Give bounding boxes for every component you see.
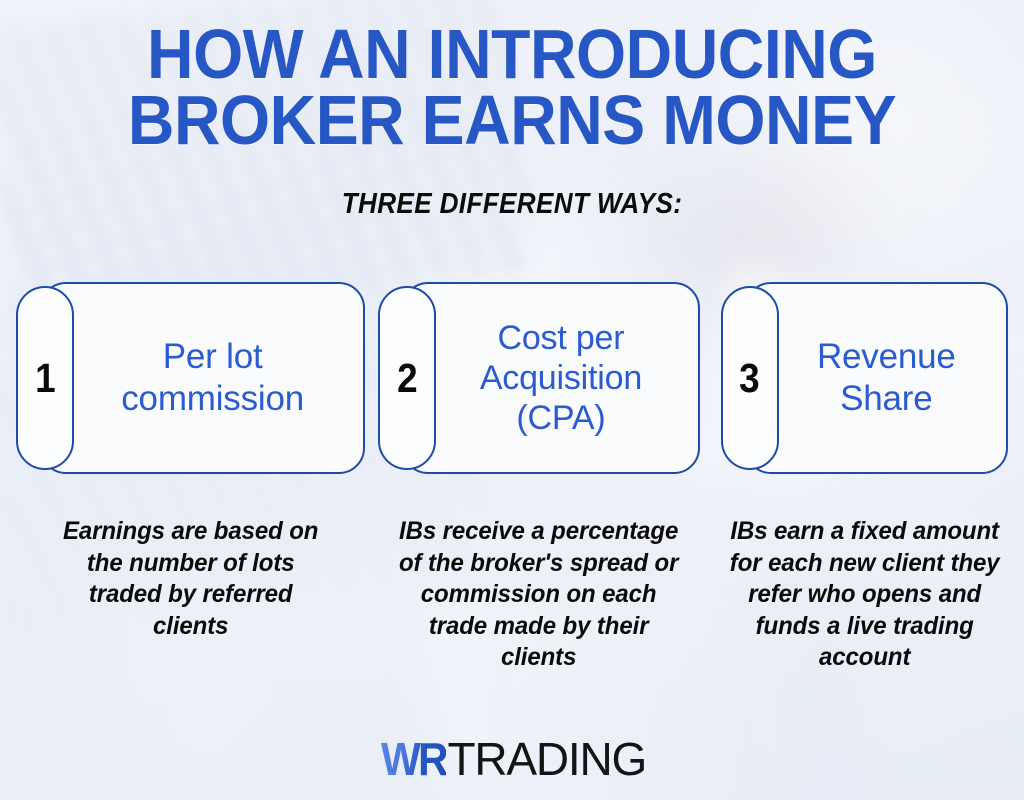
method-card-2-title: Cost per Acquisition (CPA) (438, 318, 683, 438)
brand-logo-mark: WR (381, 736, 446, 782)
method-card-3-title: Revenue Share (781, 336, 992, 420)
method-card-1-description: Earnings are based on the number of lots… (23, 516, 358, 674)
method-card-1-body: Per lot commission (40, 282, 365, 474)
method-card-1: Per lot commission 1 (16, 282, 365, 474)
method-card-3-description: IBs earn a fixed amount for each new cli… (726, 516, 1002, 674)
method-card-2-number: 2 (397, 358, 418, 399)
page-title-line-2: BROKER EARNS MONEY (41, 88, 983, 154)
method-card-1-title: Per lot commission (76, 336, 349, 420)
method-description-list: Earnings are based on the number of lots… (16, 516, 1008, 674)
brand-logo: WR TRADING (0, 736, 1024, 782)
method-card-list: Per lot commission 1 Cost per Acquisitio… (16, 282, 1008, 474)
method-card-3-number: 3 (739, 358, 760, 399)
method-card-2-description: IBs receive a percentage of the broker's… (385, 516, 693, 674)
page-title: HOW AN INTRODUCING BROKER EARNS MONEY (41, 0, 983, 154)
method-card-3-number-badge: 3 (721, 286, 779, 470)
method-card-3-body: Revenue Share (745, 282, 1008, 474)
brand-logo-wordmark: TRADING (448, 736, 647, 782)
method-card-3: Revenue Share 3 (721, 282, 1008, 474)
method-card-2-number-badge: 2 (378, 286, 436, 470)
method-card-1-number-badge: 1 (16, 286, 74, 470)
method-card-2-body: Cost per Acquisition (CPA) (402, 282, 699, 474)
infographic: HOW AN INTRODUCING BROKER EARNS MONEY TH… (0, 0, 1024, 800)
page-subtitle: THREE DIFFERENT WAYS: (51, 188, 973, 221)
method-card-1-number: 1 (35, 358, 56, 399)
method-card-2: Cost per Acquisition (CPA) 2 (378, 282, 699, 474)
